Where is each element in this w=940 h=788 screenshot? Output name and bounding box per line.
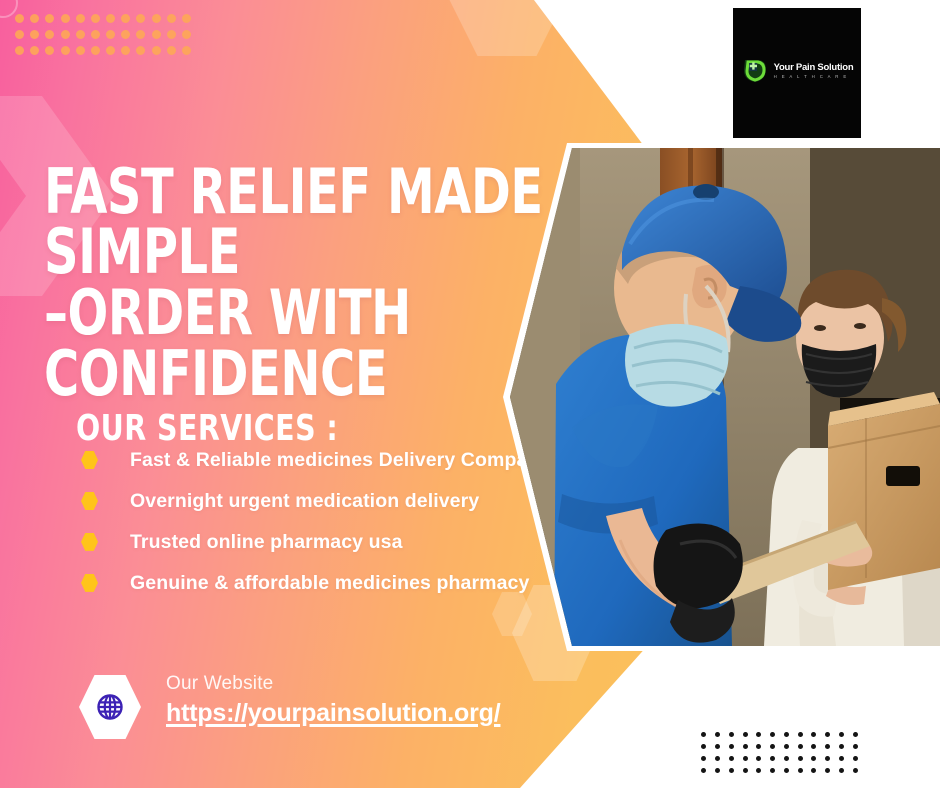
list-item-label: Genuine & affordable medicines pharmacy (130, 572, 529, 594)
list-item: Trusted online pharmacy usa (76, 530, 596, 555)
list-item: Genuine & affordable medicines pharmacy (76, 571, 596, 596)
headline-line-2: –ORDER WITH CONFIDENCE (44, 283, 560, 405)
delivery-photo (510, 148, 940, 646)
list-item-label: Fast & Reliable medicines Delivery Compa… (130, 449, 550, 471)
list-item-label: Overnight urgent medication delivery (130, 490, 479, 512)
logo-name: Your Pain Solution (774, 63, 854, 73)
hexagon-bullet-icon (81, 533, 98, 551)
dot-grid-bottom-right (697, 728, 862, 776)
dot-grid-top-left (12, 10, 194, 58)
photo-illustration (510, 148, 940, 646)
hexagon-bullet-icon (81, 574, 98, 592)
services-heading: OUR SERVICES : (76, 408, 338, 449)
list-item: Overnight urgent medication delivery (76, 489, 596, 514)
brand-logo: Your Pain Solution H E A L T H C A R E (733, 8, 861, 138)
website-url-link[interactable]: https://yourpainsolution.org/ (166, 699, 500, 728)
heart-cross-icon (741, 57, 771, 85)
hexagon-bullet-icon (81, 451, 98, 469)
website-label: Our Website (166, 673, 273, 695)
page-title: FAST RELIEF MADE SIMPLE –ORDER WITH CONF… (44, 162, 560, 405)
headline-line-1: FAST RELIEF MADE SIMPLE (44, 155, 543, 289)
list-item-label: Trusted online pharmacy usa (130, 531, 403, 553)
globe-icon (95, 692, 125, 722)
promotional-poster: FAST RELIEF MADE SIMPLE –ORDER WITH CONF… (0, 0, 940, 788)
logo-tagline: H E A L T H C A R E (774, 75, 854, 79)
services-list: Fast & Reliable medicines Delivery Compa… (76, 448, 596, 612)
hexagon-bullet-icon (81, 492, 98, 510)
